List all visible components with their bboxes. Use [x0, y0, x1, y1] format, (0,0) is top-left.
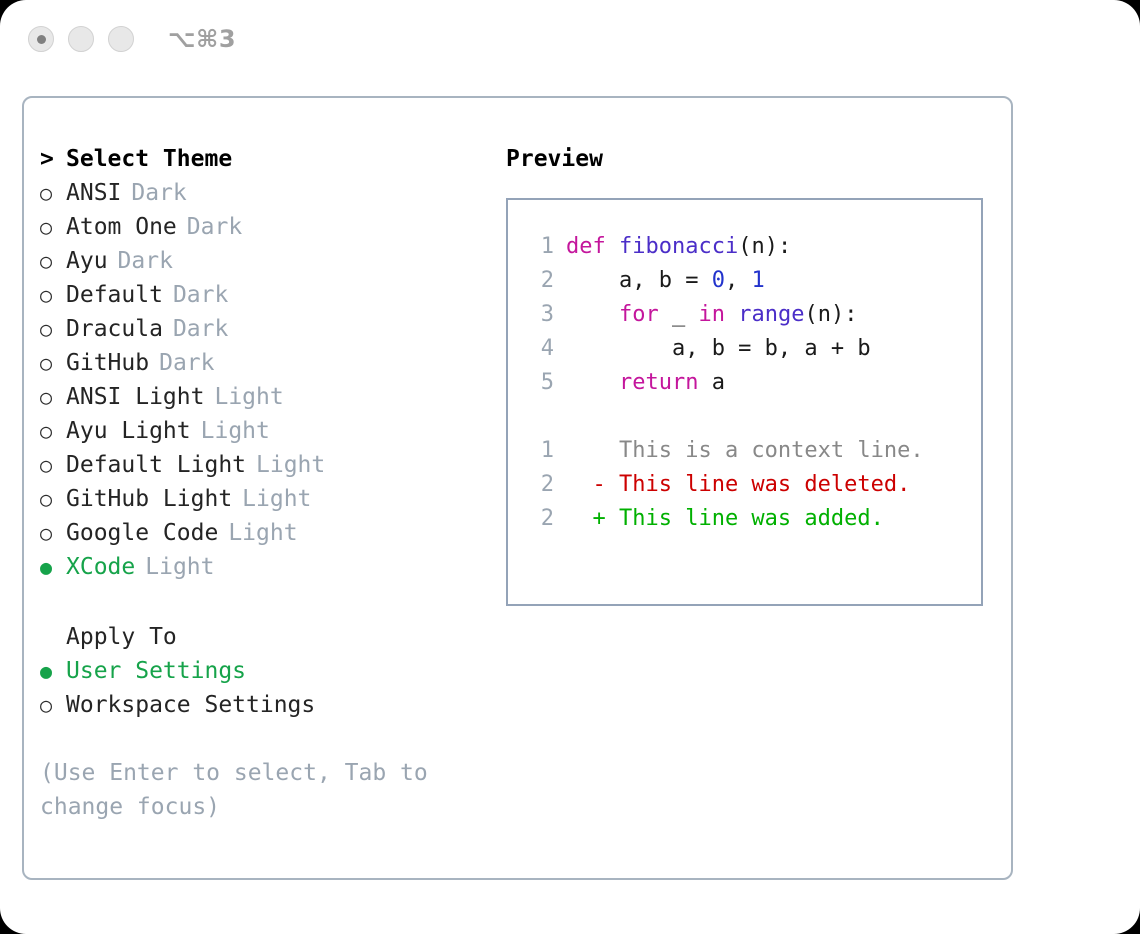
line-number: 2	[526, 268, 554, 293]
dialog-panel: > Select Theme ○ANSIDark○Atom OneDark○Ay…	[22, 96, 1013, 880]
theme-name: Atom One	[66, 214, 177, 240]
theme-variant: Light	[228, 520, 297, 546]
diff-marker: +	[566, 506, 619, 531]
radio-unselected-icon[interactable]: ○	[40, 489, 66, 509]
line-number: 3	[526, 302, 554, 327]
code-token	[725, 302, 738, 327]
radio-selected-icon[interactable]: ●	[40, 661, 66, 681]
radio-unselected-icon[interactable]: ○	[40, 251, 66, 271]
theme-variant: Light	[242, 486, 311, 512]
theme-variant: Dark	[118, 248, 173, 274]
theme-list-item[interactable]: ○Ayu LightLight	[40, 418, 489, 452]
theme-list-item[interactable]: ○DraculaDark	[40, 316, 489, 350]
apply-to-label: Apply To	[66, 624, 177, 650]
code-token: for	[619, 302, 659, 327]
diff-text: This line was deleted.	[619, 472, 910, 497]
theme-list-item[interactable]: ○Atom OneDark	[40, 214, 489, 248]
apply-to-heading: ○ Apply To	[40, 624, 489, 658]
theme-variant: Dark	[187, 214, 242, 240]
code-line: 2 a, b = 0, 1	[526, 268, 981, 302]
apply-to-option[interactable]: ○Workspace Settings	[40, 692, 489, 726]
diff-marker: -	[566, 472, 619, 497]
theme-name: GitHub Light	[66, 486, 232, 512]
diff-text: This line was added.	[619, 506, 884, 531]
code-token: ,	[725, 268, 752, 293]
window-control-3-icon[interactable]	[108, 26, 134, 52]
code-token: return	[619, 370, 698, 395]
theme-name: Default	[66, 282, 163, 308]
code-token: a	[698, 370, 725, 395]
theme-name: GitHub	[66, 350, 149, 376]
caret-icon: >	[40, 146, 66, 172]
theme-name: Google Code	[66, 520, 218, 546]
keyboard-hint: (Use Enter to select, Tab to change focu…	[40, 756, 440, 824]
active-indicator-icon	[37, 35, 46, 44]
theme-variant: Light	[256, 452, 325, 478]
theme-name: ANSI Light	[66, 384, 204, 410]
code-token: 1	[751, 268, 764, 293]
theme-name: ANSI	[66, 180, 121, 206]
theme-variant: Dark	[159, 350, 214, 376]
radio-selected-icon[interactable]: ●	[40, 557, 66, 577]
code-line: 3 for _ in range(n):	[526, 302, 981, 336]
code-token	[566, 370, 619, 395]
preview-box: 1def fibonacci(n):2 a, b = 0, 13 for _ i…	[506, 198, 983, 606]
code-token	[566, 302, 619, 327]
code-line: 1def fibonacci(n):	[526, 234, 981, 268]
code-token: _	[659, 302, 699, 327]
select-theme-heading: > Select Theme	[40, 146, 489, 180]
theme-list: ○ANSIDark○Atom OneDark○AyuDark○DefaultDa…	[40, 180, 489, 588]
radio-unselected-icon[interactable]: ○	[40, 421, 66, 441]
indent-spacer: ○	[40, 627, 66, 647]
diff-marker	[566, 438, 619, 463]
apply-to-list: ●User Settings○Workspace Settings	[40, 658, 489, 726]
radio-unselected-icon[interactable]: ○	[40, 455, 66, 475]
line-number: 1	[526, 438, 554, 463]
theme-name: Ayu	[66, 248, 108, 274]
code-token: (n):	[804, 302, 857, 327]
radio-unselected-icon[interactable]: ○	[40, 695, 66, 715]
theme-list-item[interactable]: ○GitHubDark	[40, 350, 489, 384]
window-control-active-icon[interactable]	[28, 26, 54, 52]
theme-name: Default Light	[66, 452, 246, 478]
app-window: ⌥⌘3 > Select Theme ○ANSIDark○Atom OneDar…	[0, 0, 1140, 934]
code-spacer	[526, 404, 981, 438]
spacer	[40, 588, 489, 624]
code-token: a, b =	[566, 268, 712, 293]
theme-list-item[interactable]: ○Default LightLight	[40, 452, 489, 486]
apply-to-option-label: Workspace Settings	[66, 692, 315, 718]
line-number: 5	[526, 370, 554, 395]
code-line: 4 a, b = b, a + b	[526, 336, 981, 370]
titlebar: ⌥⌘3	[0, 0, 1140, 78]
theme-list-item[interactable]: ○DefaultDark	[40, 282, 489, 316]
theme-variant: Dark	[173, 316, 228, 342]
diff-line: 1 This is a context line.	[526, 438, 981, 472]
line-number: 2	[526, 472, 554, 497]
window-control-2-icon[interactable]	[68, 26, 94, 52]
radio-unselected-icon[interactable]: ○	[40, 319, 66, 339]
diff-line: 2 - This line was deleted.	[526, 472, 981, 506]
window-controls	[28, 26, 134, 52]
theme-variant: Light	[145, 554, 214, 580]
theme-variant: Dark	[173, 282, 228, 308]
code-token: range	[738, 302, 804, 327]
theme-list-item[interactable]: ●XCodeLight	[40, 554, 489, 588]
theme-list-item[interactable]: ○ANSI LightLight	[40, 384, 489, 418]
theme-name: Ayu Light	[66, 418, 191, 444]
code-token: a, b = b, a + b	[566, 336, 871, 361]
apply-to-option-label: User Settings	[66, 658, 246, 684]
preview-title: Preview	[506, 146, 1011, 172]
theme-name: XCode	[66, 554, 135, 580]
theme-list-item[interactable]: ○AyuDark	[40, 248, 489, 282]
code-token: fibonacci	[619, 234, 738, 259]
code-token: def	[566, 234, 619, 259]
keyboard-shortcut-label: ⌥⌘3	[168, 25, 236, 53]
code-sample: 1def fibonacci(n):2 a, b = 0, 13 for _ i…	[526, 234, 981, 404]
code-token: 0	[712, 268, 725, 293]
theme-list-item[interactable]: ○ANSIDark	[40, 180, 489, 214]
line-number: 2	[526, 506, 554, 531]
theme-variant: Light	[214, 384, 283, 410]
code-line: 5 return a	[526, 370, 981, 404]
diff-text: This is a context line.	[619, 438, 924, 463]
radio-unselected-icon[interactable]: ○	[40, 387, 66, 407]
radio-unselected-icon[interactable]: ○	[40, 285, 66, 305]
apply-to-option[interactable]: ●User Settings	[40, 658, 489, 692]
radio-unselected-icon[interactable]: ○	[40, 217, 66, 237]
diff-line: 2 + This line was added.	[526, 506, 981, 540]
code-token: in	[698, 302, 725, 327]
theme-selector-pane: > Select Theme ○ANSIDark○Atom OneDark○Ay…	[24, 98, 489, 878]
radio-unselected-icon[interactable]: ○	[40, 183, 66, 203]
theme-variant: Dark	[131, 180, 186, 206]
diff-sample: 1 This is a context line.2 - This line w…	[526, 438, 981, 540]
theme-list-item[interactable]: ○Google CodeLight	[40, 520, 489, 554]
line-number: 1	[526, 234, 554, 259]
code-token: (n):	[738, 234, 791, 259]
line-number: 4	[526, 336, 554, 361]
preview-pane: Preview 1def fibonacci(n):2 a, b = 0, 13…	[489, 98, 1011, 878]
radio-unselected-icon[interactable]: ○	[40, 353, 66, 373]
theme-list-item[interactable]: ○GitHub LightLight	[40, 486, 489, 520]
theme-variant: Light	[201, 418, 270, 444]
theme-name: Dracula	[66, 316, 163, 342]
radio-unselected-icon[interactable]: ○	[40, 523, 66, 543]
page-title: Select Theme	[66, 146, 232, 172]
